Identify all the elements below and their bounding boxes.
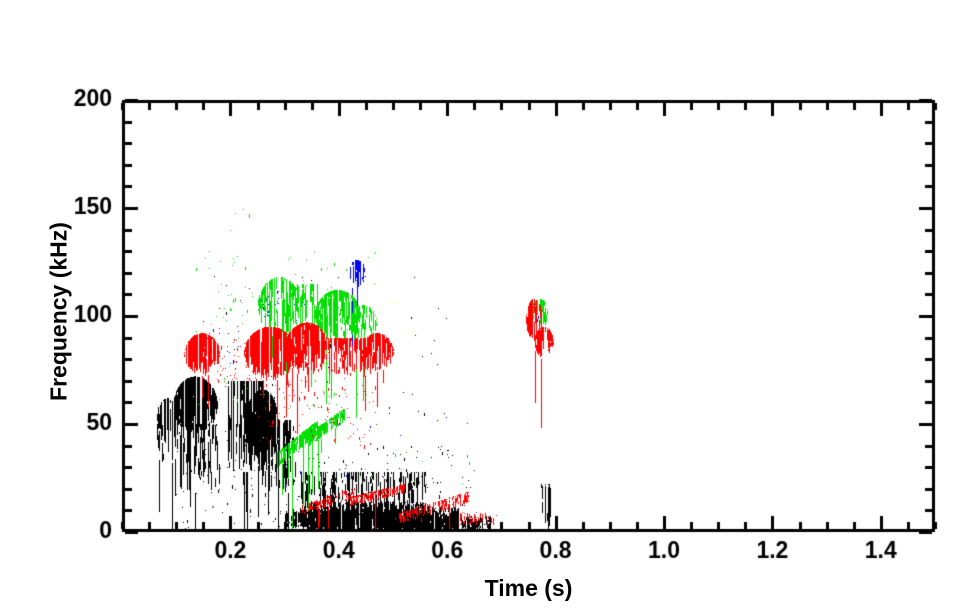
x-axis-title: Time (s): [122, 575, 935, 602]
y-axis-title: Frequency (kHz): [46, 167, 73, 457]
spectrogram-plot-area: [0, 0, 963, 615]
spectrum-figure: Shot 123890 ωB(ω) spectrum for toroidal …: [0, 0, 963, 615]
